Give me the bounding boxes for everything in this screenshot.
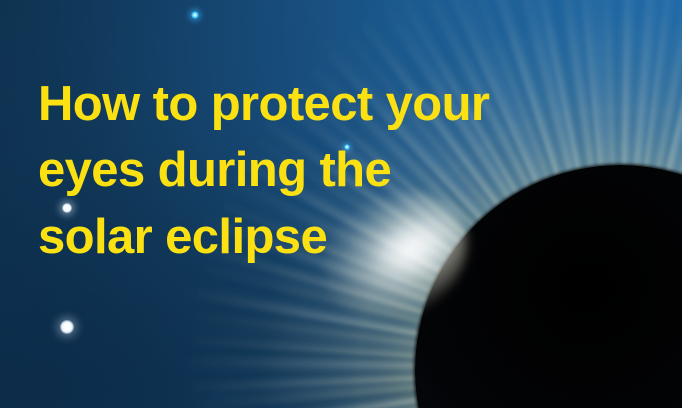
- star-cyan-top: [191, 11, 199, 19]
- star-white-lower: [60, 320, 74, 334]
- headline-line-3: solar eclipse: [38, 204, 598, 271]
- headline-line-1: How to protect your: [38, 71, 598, 138]
- page-title: How to protect your eyes during the sola…: [38, 71, 598, 271]
- headline-line-2: eyes during the: [38, 137, 598, 204]
- eclipse-banner: How to protect your eyes during the sola…: [0, 0, 682, 408]
